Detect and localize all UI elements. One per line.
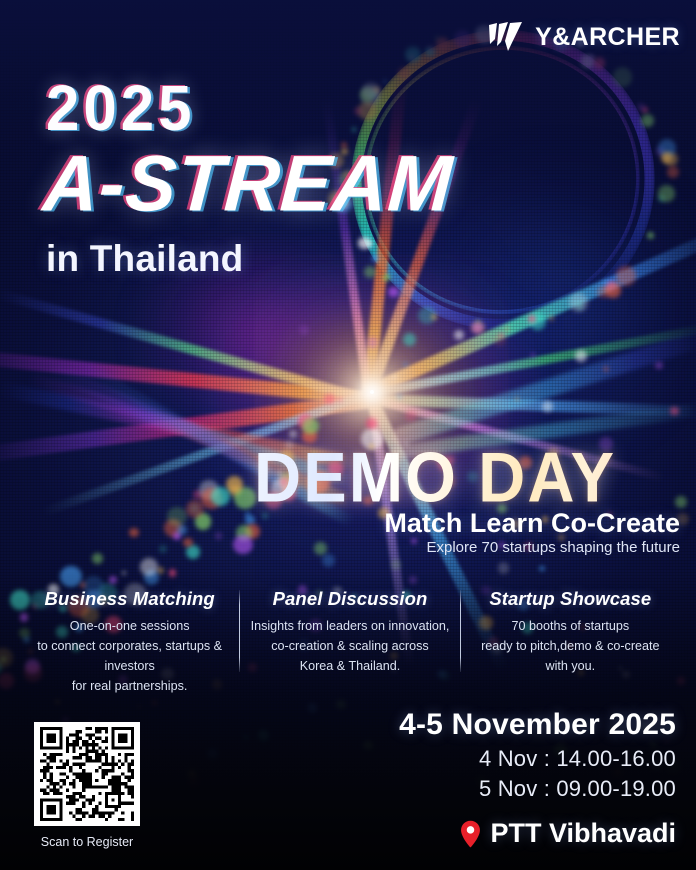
feature-column-startup-showcase: Startup Showcase 70 booths of startups r… xyxy=(461,588,680,677)
poster-root: Y&ARCHER 2025 A-STREAM in Thailand DEMO … xyxy=(0,0,696,870)
schedule-day2: 5 Nov : 09.00-19.00 xyxy=(399,776,676,802)
feature-line: to connect corporates, startups & invest… xyxy=(28,637,231,677)
feature-line: Korea & Thailand. xyxy=(248,657,451,677)
hero-tagline: Match Learn Co-Create xyxy=(384,508,680,539)
title-year: 2025 xyxy=(46,78,455,140)
feature-column-panel-discussion: Panel Discussion Insights from leaders o… xyxy=(240,588,459,677)
feature-column-business-matching: Business Matching One-on-one sessions to… xyxy=(20,588,239,697)
feature-line: One-on-one sessions xyxy=(28,617,231,637)
feature-line: ready to pitch,demo & co-create xyxy=(469,637,672,657)
qr-caption: Scan to Register xyxy=(34,835,140,849)
feature-line: co-creation & scaling across xyxy=(248,637,451,657)
qr-code-image xyxy=(39,727,135,821)
location-pin-icon xyxy=(460,820,481,848)
feature-title: Panel Discussion xyxy=(248,588,451,610)
venue-name: PTT Vibhavadi xyxy=(490,818,676,849)
schedule-day1: 4 Nov : 14.00-16.00 xyxy=(399,746,676,772)
title-location: in Thailand xyxy=(46,238,455,280)
feature-title: Business Matching xyxy=(28,588,231,610)
feature-line: with you. xyxy=(469,657,672,677)
qr-code[interactable] xyxy=(34,722,140,826)
brand-logo: Y&ARCHER xyxy=(488,22,680,52)
title-event: A-STREAM xyxy=(41,147,455,223)
schedule-block: 4-5 November 2025 4 Nov : 14.00-16.00 5 … xyxy=(399,708,676,802)
qr-block: Scan to Register xyxy=(34,722,140,849)
venue-block: PTT Vibhavadi xyxy=(460,818,676,849)
feature-columns: Business Matching One-on-one sessions to… xyxy=(20,588,680,678)
feature-line: 70 booths of startups xyxy=(469,617,672,637)
demo-day-heading: DEMO DAY xyxy=(254,442,616,512)
feature-title: Startup Showcase xyxy=(469,588,672,610)
poster-content: Y&ARCHER 2025 A-STREAM in Thailand DEMO … xyxy=(0,0,696,870)
hero-subtagline: Explore 70 startups shaping the future xyxy=(427,539,681,556)
yarcher-shards-logo-icon xyxy=(488,22,524,52)
brand-logo-text: Y&ARCHER xyxy=(535,23,680,52)
feature-line: Insights from leaders on innovation, xyxy=(248,617,451,637)
feature-line: for real partnerships. xyxy=(28,677,231,697)
schedule-dates: 4-5 November 2025 xyxy=(399,708,676,742)
title-block: 2025 A-STREAM in Thailand xyxy=(46,78,455,280)
